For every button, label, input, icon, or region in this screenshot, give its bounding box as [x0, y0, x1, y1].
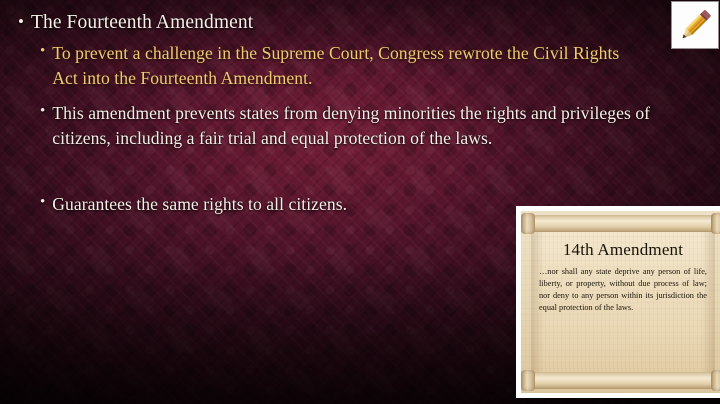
scroll-roll-bottom — [523, 372, 720, 389]
scroll-title: 14th Amendment — [535, 241, 711, 260]
bullet-dot-icon: • — [18, 13, 24, 30]
bullet-level2-guarantees-rights: • Guarantees the same rights to all citi… — [40, 192, 470, 217]
scroll-text-block: 14th Amendment …nor shall any state depr… — [535, 237, 711, 367]
bullet-level2-label: Guarantees the same rights to all citize… — [52, 192, 347, 217]
scroll-cap-top-right — [711, 213, 720, 234]
bullet-level2-prevent-challenge: • To prevent a challenge in the Supreme … — [40, 41, 640, 92]
pencil-icon-panel[interactable] — [672, 2, 718, 48]
scroll-roll-top — [523, 215, 720, 232]
slide-canvas: • The Fourteenth Amendment • To prevent … — [0, 0, 720, 404]
scroll-image: 14th Amendment …nor shall any state depr… — [521, 211, 720, 393]
scroll-cap-top-left — [521, 213, 535, 234]
scroll-cap-bottom-left — [521, 370, 535, 391]
bullet-level1-fourteenth-amendment: • The Fourteenth Amendment — [18, 11, 253, 34]
scroll-image-frame: 14th Amendment …nor shall any state depr… — [516, 206, 720, 398]
bullet-level1-label: The Fourteenth Amendment — [31, 11, 253, 34]
bullet-level2-label: This amendment prevents states from deny… — [52, 101, 660, 152]
bullet-dot-icon: • — [40, 44, 45, 59]
bullet-dot-icon: • — [40, 195, 45, 210]
bullet-level2-label: To prevent a challenge in the Supreme Co… — [52, 41, 640, 92]
scroll-cap-bottom-right — [711, 370, 720, 391]
pencil-icon — [672, 2, 718, 48]
scroll-body-text: …nor shall any state deprive any person … — [535, 266, 711, 315]
bullet-level2-prevents-states: • This amendment prevents states from de… — [40, 101, 660, 152]
bullet-dot-icon: • — [40, 104, 45, 119]
